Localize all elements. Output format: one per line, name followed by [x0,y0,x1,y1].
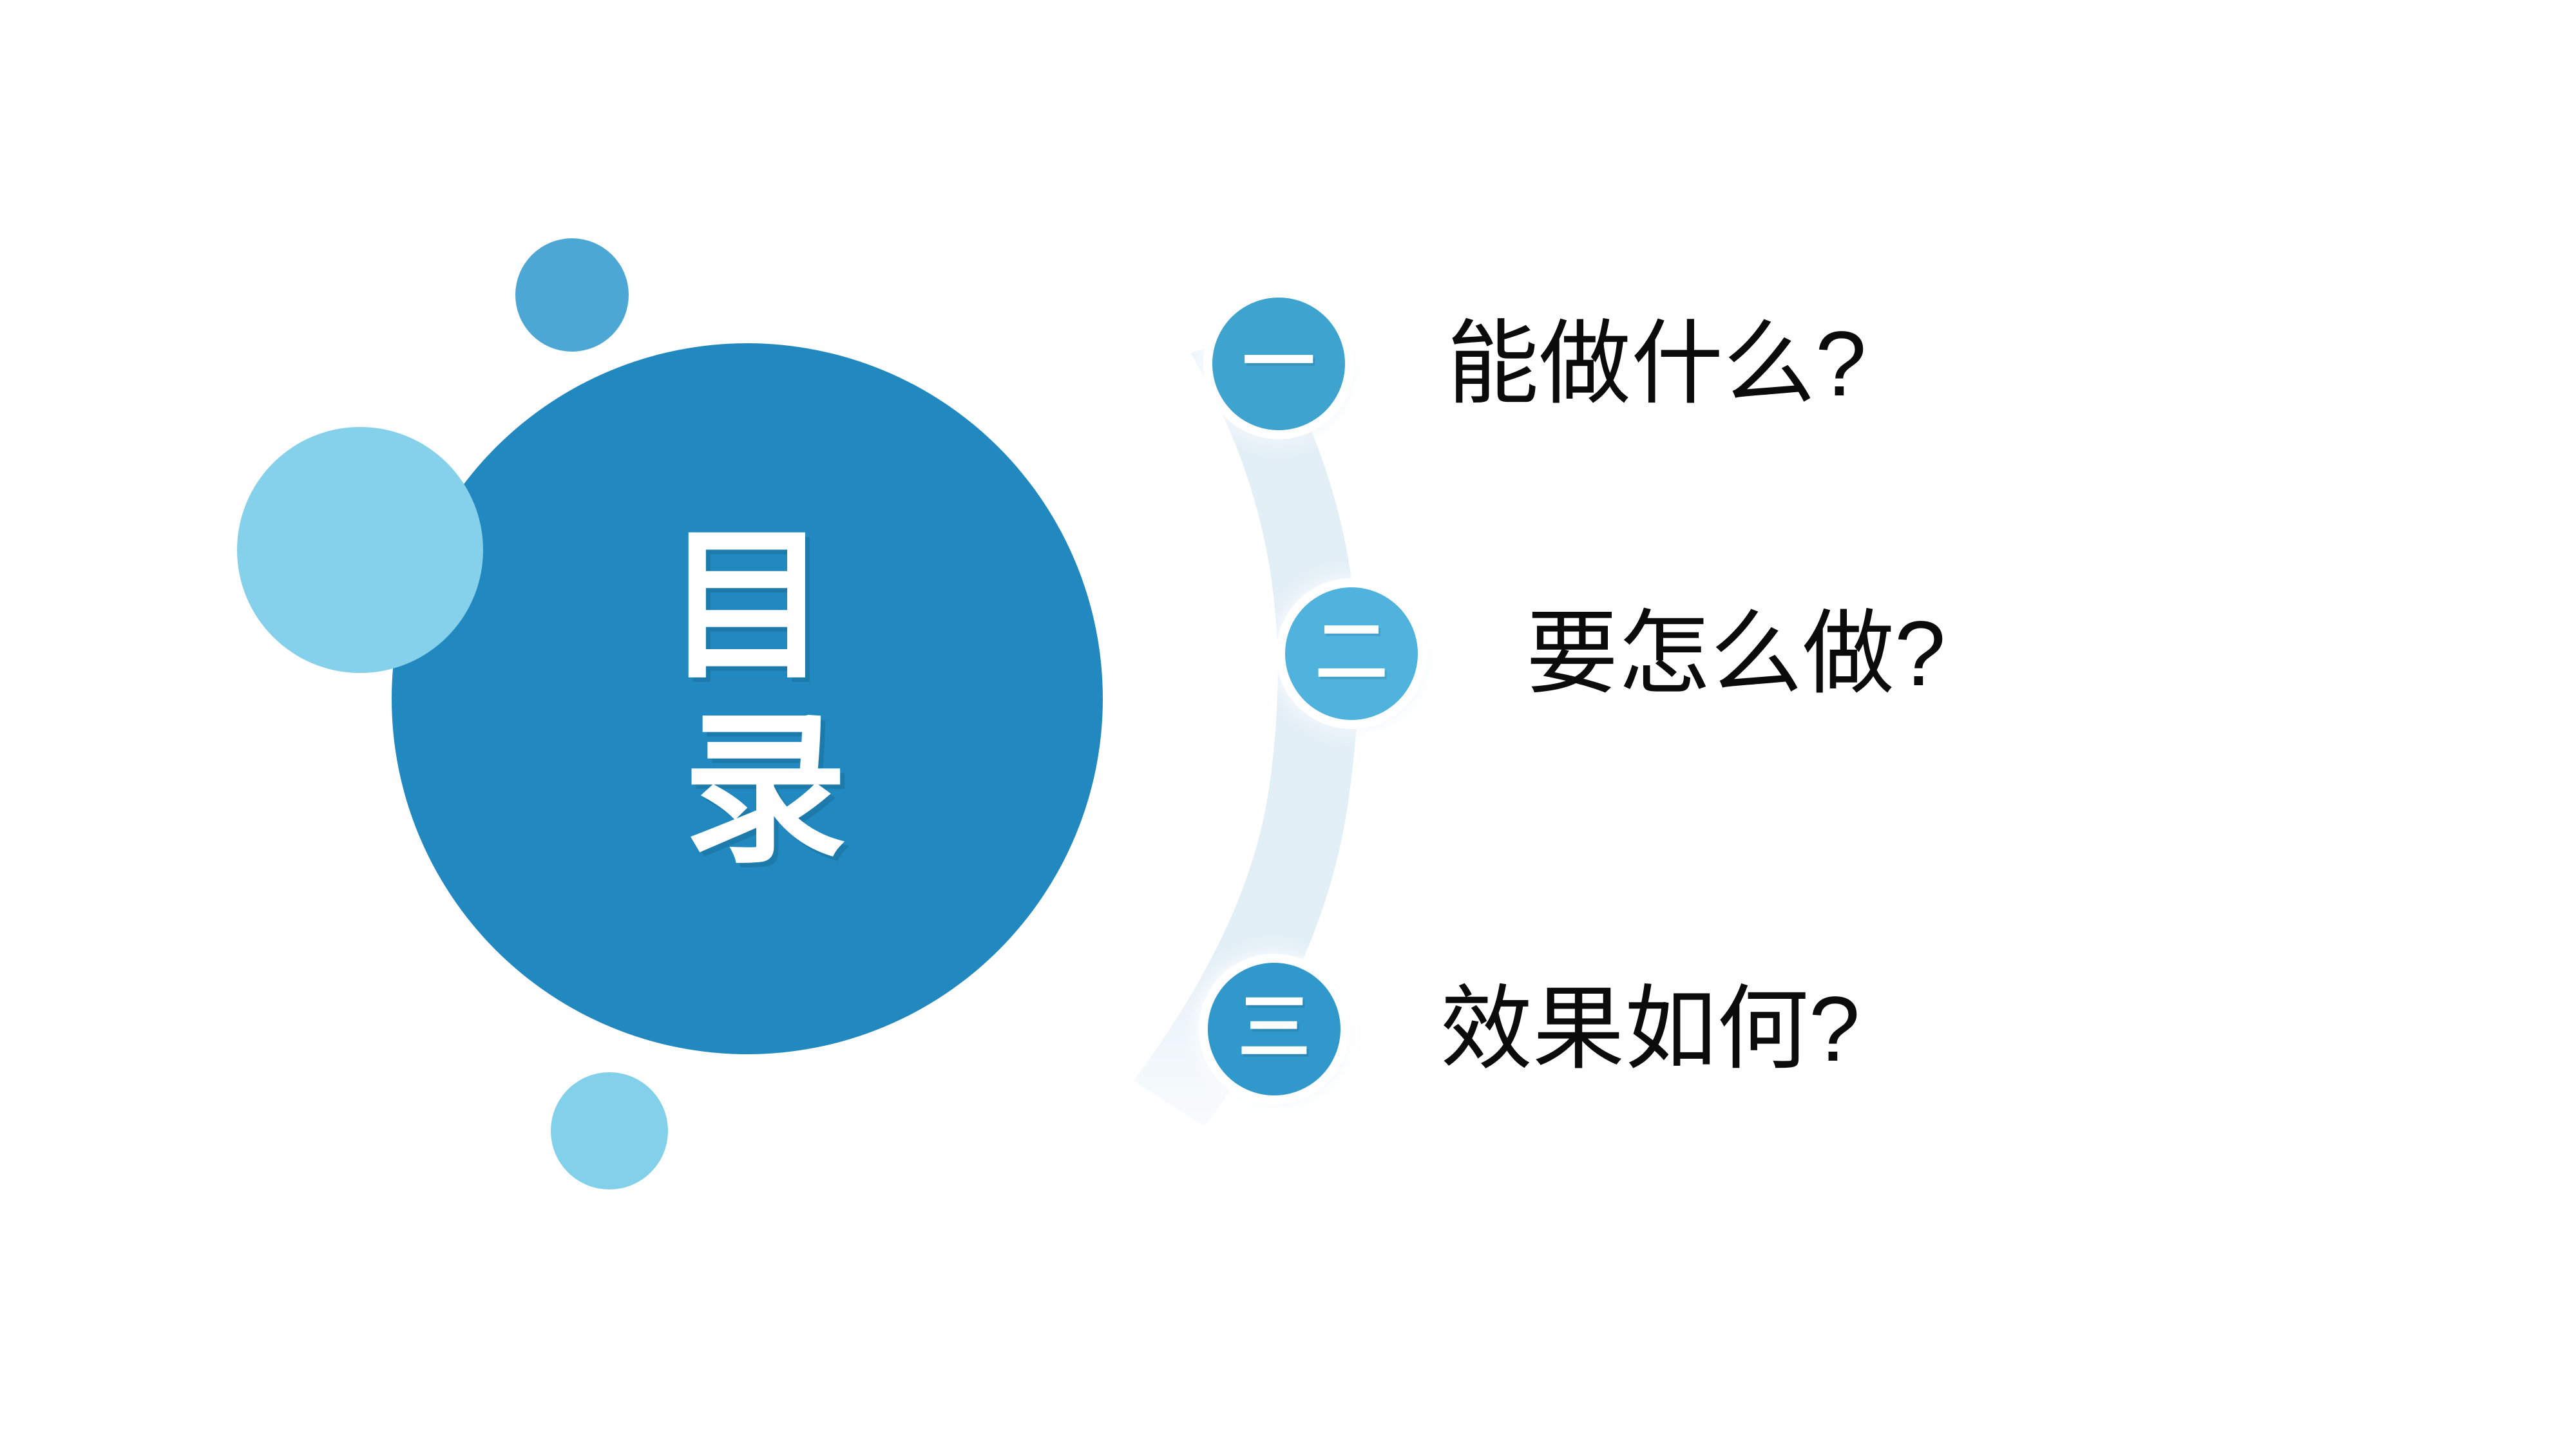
agenda-badge-3[interactable]: 三 [1208,963,1340,1095]
agenda-badge-1[interactable]: 一 [1212,298,1345,430]
agenda-item-1[interactable]: 一 能做什么? [1212,298,1867,430]
title-circle [392,343,1103,1054]
agenda-numeral-3: 三 [1238,992,1310,1064]
agenda-label-1: 能做什么? [1447,318,1867,410]
agenda-numeral-1: 一 [1243,327,1315,399]
agenda-label-3: 效果如何? [1440,983,1860,1075]
agenda-badge-2[interactable]: 二 [1285,587,1418,720]
agenda-item-3[interactable]: 三 效果如何? [1208,963,1860,1095]
agenda-label-2: 要怎么做? [1526,608,1946,700]
agenda-item-2[interactable]: 二 要怎么做? [1285,587,1946,720]
agenda-numeral-2: 二 [1315,616,1388,688]
decor-circle-top [515,238,629,352]
decor-circle-left [237,427,483,673]
decor-circle-bottom [551,1072,668,1189]
slide-canvas: 目 录 一 能做什么? 二 要怎么做? 三 效果如何? [0,0,2576,1449]
